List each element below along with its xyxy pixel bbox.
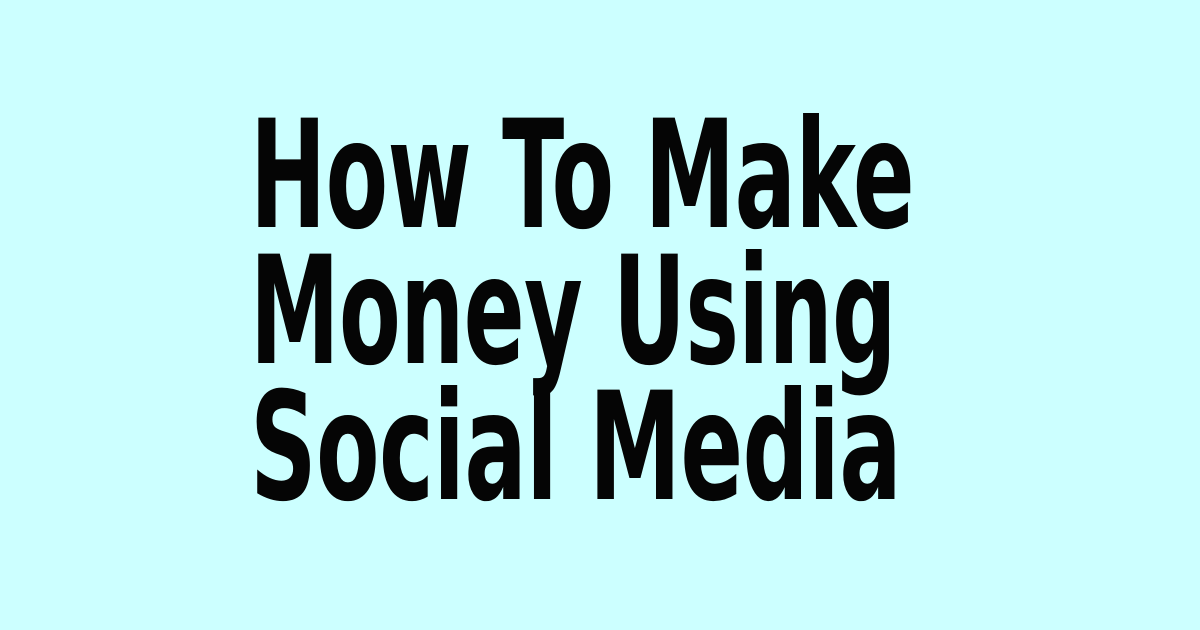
title-card-canvas: How To Make Money Using Social Media bbox=[0, 0, 1200, 630]
headline-line-3: Social Media bbox=[250, 380, 682, 516]
headline-line-1: How To Make bbox=[250, 108, 675, 244]
page-title: How To Make Money Using Social Media bbox=[250, 108, 950, 516]
headline-line-2: Money Using bbox=[250, 244, 670, 380]
